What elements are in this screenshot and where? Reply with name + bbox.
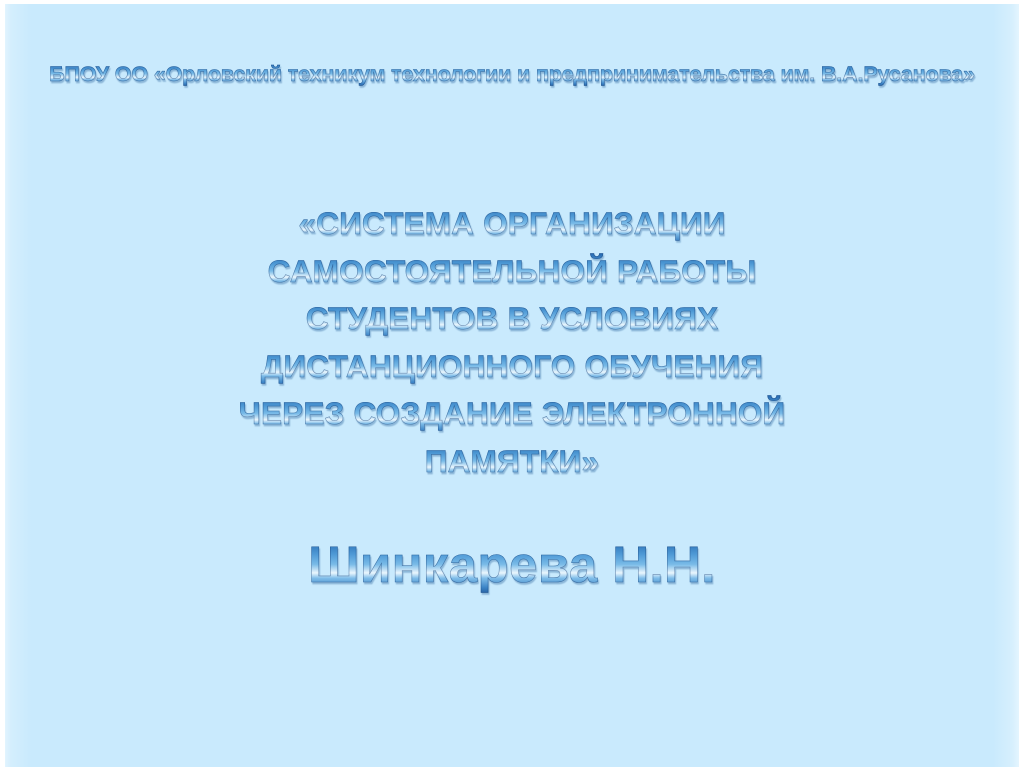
title-line-5: ЧЕРЕЗ СОЗДАНИЕ ЭЛЕКТРОННОЙ — [5, 390, 1019, 438]
title-line-4: ДИСТАНЦИОННОГО ОБУЧЕНИЯ — [5, 343, 1019, 391]
slide-canvas: БПОУ ОО «Орловский техникум технологии и… — [5, 4, 1019, 767]
author-name: Шинкарева Н.Н. — [5, 532, 1019, 598]
title-line-6: ПАМЯТКИ» — [5, 438, 1019, 486]
institution-header: БПОУ ОО «Орловский техникум технологии и… — [5, 60, 1019, 88]
title-line-2: САМОСТОЯТЕЛЬНОЙ РАБОТЫ — [5, 248, 1019, 296]
presentation-slide: БПОУ ОО «Орловский техникум технологии и… — [0, 0, 1024, 767]
slide-title-block: «СИСТЕМА ОРГАНИЗАЦИИ САМОСТОЯТЕЛЬНОЙ РАБ… — [5, 200, 1019, 485]
title-line-3: СТУДЕНТОВ В УСЛОВИЯХ — [5, 295, 1019, 343]
title-line-1: «СИСТЕМА ОРГАНИЗАЦИИ — [5, 200, 1019, 248]
